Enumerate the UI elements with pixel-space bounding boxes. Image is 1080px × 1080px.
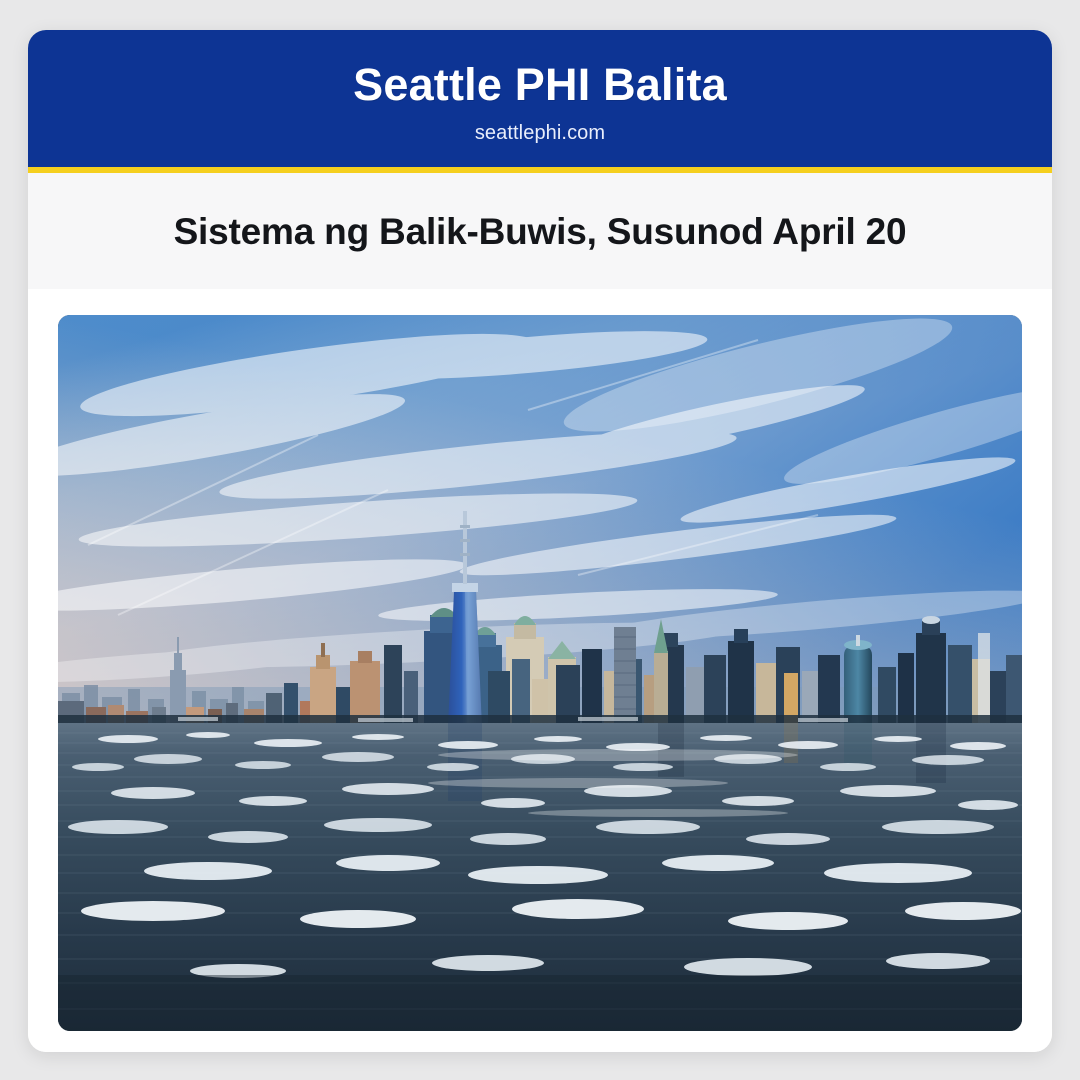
- site-header: Seattle PHI Balita seattlephi.com: [28, 30, 1052, 167]
- headline-band: Sistema ng Balik-Buwis, Susunod April 20: [28, 173, 1052, 288]
- site-url[interactable]: seattlephi.com: [68, 122, 1012, 145]
- article-photo: [58, 315, 1022, 1031]
- site-title: Seattle PHI Balita: [68, 60, 1012, 110]
- news-card: Seattle PHI Balita seattlephi.com Sistem…: [28, 30, 1052, 1052]
- article-media: [28, 289, 1052, 1052]
- poster-canvas: Seattle PHI Balita seattlephi.com Sistem…: [0, 0, 1080, 1080]
- skyline-illustration: [58, 315, 1022, 1031]
- article-headline: Sistema ng Balik-Buwis, Susunod April 20: [78, 209, 1002, 254]
